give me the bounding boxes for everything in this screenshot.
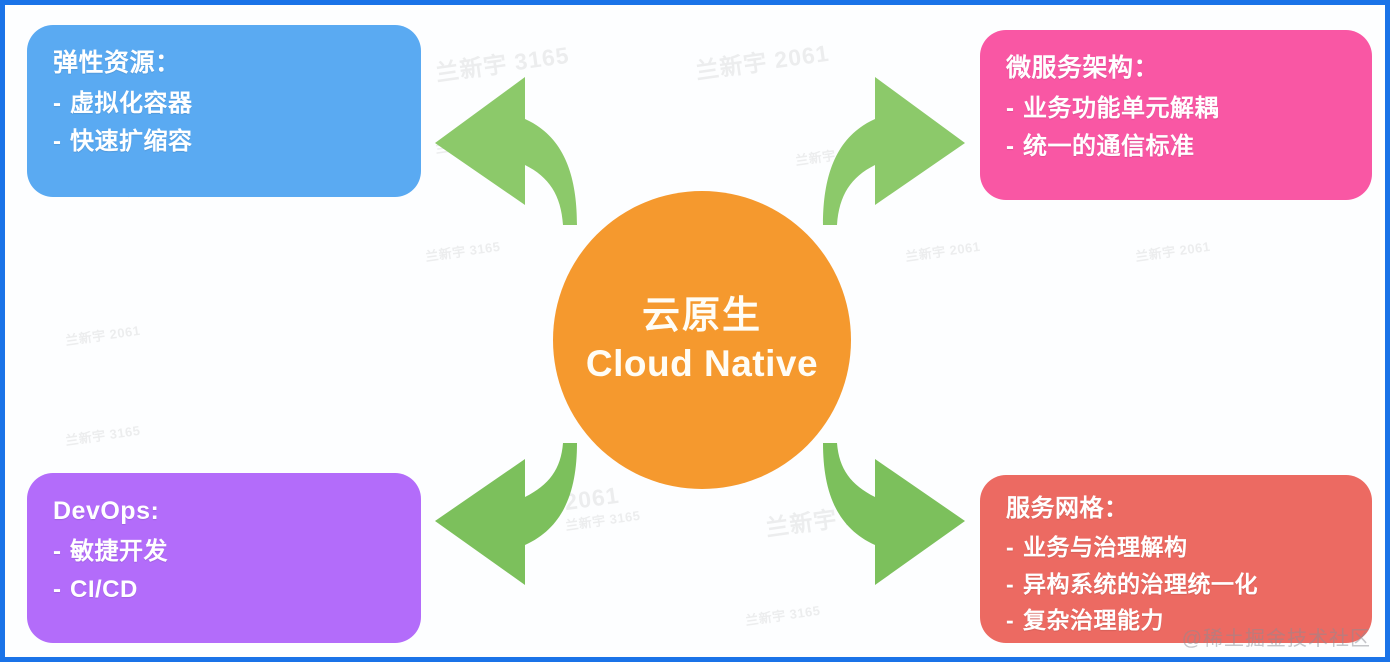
bullet-text: 统一的通信标准	[1023, 133, 1195, 160]
card-bullet: -快速扩缩容	[53, 123, 395, 161]
card-title: 服务网格：	[1006, 493, 1346, 525]
watermark-tile: 兰新宇 3165	[64, 420, 141, 449]
bullet-dash: -	[53, 533, 70, 571]
card-microservice-architecture[interactable]: 微服务架构： -业务功能单元解耦 -统一的通信标准	[980, 30, 1372, 200]
card-title: DevOps:	[53, 495, 395, 529]
bullet-dash: -	[1006, 529, 1023, 565]
center-title-en: Cloud Native	[586, 341, 818, 387]
arrow-top-right-icon	[805, 57, 975, 227]
bullet-dash: -	[1006, 90, 1023, 128]
bullet-text: 异构系统的治理统一化	[1023, 571, 1258, 597]
watermark-tile: 兰新宇 2061	[904, 236, 981, 265]
bullet-text: 敏捷开发	[70, 538, 168, 565]
arrow-bottom-right-icon	[805, 443, 975, 593]
card-elastic-resources[interactable]: 弹性资源： -虚拟化容器 -快速扩缩容	[27, 25, 421, 197]
card-bullet: -虚拟化容器	[53, 85, 395, 123]
bullet-text: CI/CD	[70, 576, 138, 603]
card-title: 弹性资源：	[53, 47, 395, 81]
card-bullet: -异构系统的治理统一化	[1006, 566, 1346, 602]
card-service-mesh[interactable]: 服务网格： -业务与治理解构 -异构系统的治理统一化 -复杂治理能力	[980, 475, 1372, 643]
card-bullet: -敏捷开发	[53, 533, 395, 571]
bullet-dash: -	[1006, 128, 1023, 166]
bullet-dash: -	[1006, 566, 1023, 602]
card-devops[interactable]: DevOps: -敏捷开发 -CI/CD	[27, 473, 421, 643]
bullet-dash: -	[53, 85, 70, 123]
watermark-tile: 兰新宇 2061	[1134, 236, 1211, 265]
bullet-dash: -	[53, 123, 70, 161]
brand-watermark: @稀土掘金技术社区	[1182, 622, 1371, 651]
bullet-dash: -	[1006, 602, 1023, 638]
arrow-top-left-icon	[425, 57, 595, 227]
bullet-dash: -	[53, 571, 70, 609]
card-title: 微服务架构：	[1006, 52, 1346, 86]
center-node-cloud-native[interactable]: 云原生 Cloud Native	[553, 191, 851, 489]
bullet-text: 业务功能单元解耦	[1023, 95, 1219, 122]
card-bullet: -CI/CD	[53, 571, 395, 609]
bullet-text: 业务与治理解构	[1023, 534, 1188, 560]
bullet-text: 快速扩缩容	[70, 128, 193, 155]
watermark-tile: 兰新宇 3165	[744, 600, 821, 629]
arrow-bottom-left-icon	[425, 443, 595, 593]
diagram-canvas: 兰新宇 2061 兰新宇 3165 兰新宇 2061 兰新宇 3165 兰新宇 …	[0, 0, 1390, 662]
watermark-tile: 兰新宇 2061	[64, 320, 141, 349]
card-bullet: -统一的通信标准	[1006, 128, 1346, 166]
card-bullet: -业务与治理解构	[1006, 529, 1346, 565]
center-title-cn: 云原生	[642, 293, 762, 341]
bullet-text: 复杂治理能力	[1023, 607, 1164, 633]
bullet-text: 虚拟化容器	[70, 90, 193, 117]
watermark-tile: 兰新宇 3165	[424, 236, 501, 265]
card-bullet: -业务功能单元解耦	[1006, 90, 1346, 128]
